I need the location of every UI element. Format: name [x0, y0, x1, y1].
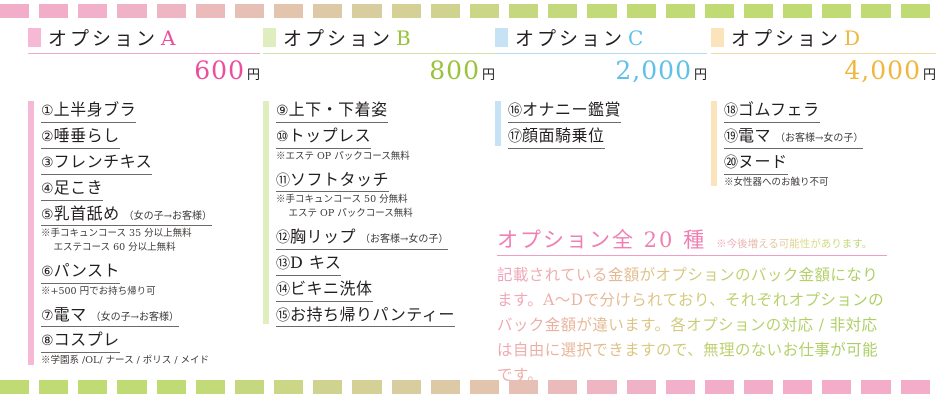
bottom-decorative-band [0, 380, 940, 394]
decor-square [117, 4, 146, 18]
column-d-header: オプション D 4,000円 [711, 24, 936, 85]
option-item-main: ②唾垂らし [41, 125, 120, 149]
decor-square [470, 380, 499, 394]
decor-square [78, 4, 107, 18]
column-d-price-yen: 円 [923, 68, 936, 83]
column-b-price-amount: 800 [429, 56, 480, 85]
option-item-main: ⑦電マ（女の子→お客様） [41, 304, 179, 328]
option-item-main: ⑱ゴムフェラ [724, 99, 820, 123]
option-item-main: ④足こき [41, 177, 103, 201]
option-item: ⑳ヌード※女性器へのお触り不可 [724, 151, 936, 190]
column-c-letter: C [628, 26, 643, 50]
column-b-price: 800円 [263, 56, 495, 85]
column-b-title: オプション [283, 24, 393, 51]
option-item-name: トップレス [289, 126, 372, 145]
option-item-name: 乳首舐め [54, 204, 120, 223]
decor-square [392, 4, 421, 18]
summary-heading-row: オプション全 20 種 ※今後増える可能性があります。 [497, 224, 887, 256]
option-item-main: ⑧コスプレ [41, 329, 120, 353]
top-decorative-band [0, 4, 940, 18]
column-b-list-accent-bar [263, 101, 269, 324]
column-b-price-yen: 円 [482, 68, 495, 83]
option-column-d: オプション D 4,000円 ⑱ゴムフェラ⑲電マ（お客様→女の子）⑳ヌード※女性… [711, 24, 936, 194]
decor-square [822, 380, 851, 394]
option-item-name: D キス [290, 253, 341, 272]
column-b-accent-chip [263, 28, 276, 47]
decor-square [39, 380, 68, 394]
option-item-number: ⑫ [276, 230, 290, 246]
column-c-title: オプション [515, 24, 625, 51]
summary-block: オプション全 20 種 ※今後増える可能性があります。 記載されている金額がオプ… [497, 224, 887, 389]
option-item-main: ⑰顔面騎乗位 [508, 125, 605, 149]
column-b-rule [263, 53, 495, 54]
option-item-name: ビキニ洗体 [290, 279, 373, 298]
option-item-parenthetical: （お客様→女の子） [775, 133, 863, 144]
decor-square [587, 4, 616, 18]
decor-square [861, 380, 890, 394]
option-item: ⑦電マ（女の子→お客様） [41, 304, 260, 328]
column-c-header: オプション C 2,000円 [495, 24, 707, 85]
column-d-price-amount: 4,000 [844, 56, 921, 85]
option-item-name: 顔面騎乗位 [522, 126, 605, 145]
option-item-name: 電マ [54, 305, 87, 324]
decor-square [274, 4, 303, 18]
decor-square [509, 4, 538, 18]
column-a-price: 600円 [28, 56, 260, 85]
column-d-list: ⑱ゴムフェラ⑲電マ（お客様→女の子）⑳ヌード※女性器へのお触り不可 [711, 99, 936, 189]
decor-square [157, 380, 186, 394]
decor-square [0, 4, 29, 18]
decor-square [0, 380, 29, 394]
column-b-header: オプション B 800円 [263, 24, 495, 85]
decor-square [39, 4, 68, 18]
option-item-main: ⑪ソフトタッチ [276, 169, 389, 193]
option-item-number: ② [41, 129, 54, 145]
option-item: ⑨上下・下着姿 [276, 99, 495, 123]
option-item-name: ソフトタッチ [290, 170, 389, 189]
column-d-accent-chip [711, 28, 724, 47]
option-item-number: ④ [41, 181, 54, 197]
option-item-name: ヌード [738, 152, 788, 171]
option-item-name: 電マ [738, 126, 771, 145]
decor-square [744, 4, 773, 18]
column-c-list-accent-bar [495, 101, 501, 146]
decor-square [352, 380, 381, 394]
option-item-name: 胸リップ [290, 227, 356, 246]
option-item: ⑥パンスト※+500 円でお持ち帰り可 [41, 260, 260, 299]
option-item-number: ⑳ [724, 155, 738, 171]
option-item: ⑩トップレス※エステ OP パックコース無料 [276, 125, 495, 164]
option-item-number: ③ [41, 155, 54, 171]
option-item-number: ① [41, 103, 54, 119]
option-item-number: ⑲ [724, 129, 738, 145]
option-item: ⑧コスプレ※学園系 /OL/ ナース / ポリス / メイド [41, 329, 260, 368]
column-c-price-amount: 2,000 [615, 56, 692, 85]
decor-square [313, 380, 342, 394]
decor-square [666, 380, 695, 394]
decor-square [548, 380, 577, 394]
decor-square [705, 380, 734, 394]
decor-square [196, 380, 225, 394]
option-item-name: 上半身ブラ [54, 100, 137, 119]
option-item-number: ⑤ [41, 207, 54, 223]
option-column-c: オプション C 2,000円 ⑯オナニー鑑賞⑰顔面騎乗位 [495, 24, 707, 151]
column-d-letter: D [844, 26, 860, 50]
decor-square [431, 4, 460, 18]
column-d-list-accent-bar [711, 101, 717, 186]
decor-square [313, 4, 342, 18]
decor-square [235, 380, 264, 394]
decor-square [235, 4, 264, 18]
option-item-note: ※手コキュンコース 50 分無料 エステ OP パックコース無料 [276, 193, 495, 221]
decor-square [274, 380, 303, 394]
option-item-main: ⑯オナニー鑑賞 [508, 99, 621, 123]
option-item-note: ※女性器へのお触り不可 [724, 176, 936, 190]
option-column-b: オプション B 800円 ⑨上下・下着姿⑩トップレス※エステ OP パックコース… [263, 24, 495, 329]
option-item-note: ※エステ OP パックコース無料 [276, 150, 495, 164]
option-item-number: ⑯ [508, 103, 522, 119]
option-item: ①上半身ブラ [41, 99, 260, 123]
decor-square [157, 4, 186, 18]
column-a-list-accent-bar [28, 101, 34, 365]
option-item: ⑫胸リップ（お客様→女の子） [276, 226, 495, 250]
decor-square [901, 4, 930, 18]
option-item: ⑮お持ち帰りパンティー [276, 304, 495, 328]
option-item-name: フレンチキス [54, 152, 153, 171]
decor-square [744, 380, 773, 394]
option-item-main: ⑬D キス [276, 252, 341, 276]
option-item-name: パンスト [54, 261, 120, 280]
option-item-name: お持ち帰りパンティー [290, 305, 455, 324]
column-b-letter: B [396, 26, 411, 50]
option-item-number: ⑭ [276, 282, 290, 298]
option-item-name: 唾垂らし [54, 126, 120, 145]
column-d-price: 4,000円 [711, 56, 936, 85]
decor-square [548, 4, 577, 18]
decor-square [392, 380, 421, 394]
option-item-number: ⑥ [41, 264, 54, 280]
option-item-main: ⑳ヌード [724, 151, 788, 175]
option-item-main: ⑨上下・下着姿 [276, 99, 388, 123]
decor-square [666, 4, 695, 18]
option-item-name: 足こき [54, 178, 104, 197]
option-item: ⑲電マ（お客様→女の子） [724, 125, 936, 149]
column-a-price-amount: 600 [194, 56, 245, 85]
option-item: ⑰顔面騎乗位 [508, 125, 707, 149]
option-item-main: ⑲電マ（お客様→女の子） [724, 125, 863, 149]
decor-square [705, 4, 734, 18]
decor-square [509, 380, 538, 394]
option-item-name: ゴムフェラ [738, 100, 820, 119]
option-item: ⑱ゴムフェラ [724, 99, 936, 123]
decor-square [783, 4, 812, 18]
decor-square [822, 4, 851, 18]
option-item: ⑯オナニー鑑賞 [508, 99, 707, 123]
column-a-header: オプション A 600円 [28, 24, 260, 85]
option-item: ⑤乳首舐め（女の子→お客様）※手コキュンコース 35 分以上無料 エステコース … [41, 203, 260, 255]
option-item-parenthetical: （女の子→お客様） [91, 312, 179, 323]
column-c-price: 2,000円 [495, 56, 707, 85]
column-d-rule [711, 53, 936, 54]
option-item-number: ⑧ [41, 333, 54, 349]
column-d-title: オプション [731, 24, 841, 51]
column-a-title: オプション [48, 24, 158, 51]
decor-square [783, 380, 812, 394]
option-sheet: オプション A 600円 ①上半身ブラ②唾垂らし③フレンチキス④足こき⑤乳首舐め… [0, 24, 940, 376]
option-item-main: ③フレンチキス [41, 151, 152, 175]
summary-heading: オプション全 20 種 [497, 224, 706, 254]
column-c-list: ⑯オナニー鑑賞⑰顔面騎乗位 [495, 99, 707, 149]
option-column-a: オプション A 600円 ①上半身ブラ②唾垂らし③フレンチキス④足こき⑤乳首舐め… [28, 24, 260, 373]
option-item-name: オナニー鑑賞 [522, 100, 621, 119]
option-item: ③フレンチキス [41, 151, 260, 175]
column-b-list: ⑨上下・下着姿⑩トップレス※エステ OP パックコース無料⑪ソフトタッチ※手コキ… [263, 99, 495, 327]
decor-square [78, 380, 107, 394]
option-item-note: ※学園系 /OL/ ナース / ポリス / メイド [41, 354, 260, 368]
decor-square [352, 4, 381, 18]
option-item-number: ⑩ [276, 129, 289, 145]
option-item-number: ⑰ [508, 129, 522, 145]
option-item-number: ⑱ [724, 103, 738, 119]
decor-square [196, 4, 225, 18]
column-c-price-yen: 円 [694, 68, 707, 83]
summary-body: 記載されている金額がオプションのバック金額になります。A〜Dで分けられており、そ… [497, 263, 887, 389]
option-item-number: ⑨ [276, 103, 289, 119]
option-item-main: ⑥パンスト [41, 260, 120, 284]
column-c-accent-chip [495, 28, 508, 47]
option-item-main: ①上半身ブラ [41, 99, 136, 123]
decor-square [470, 4, 499, 18]
decor-square [627, 380, 656, 394]
option-item-number: ⑦ [41, 308, 54, 324]
option-item-main: ⑫胸リップ（お客様→女の子） [276, 226, 448, 250]
column-a-list: ①上半身ブラ②唾垂らし③フレンチキス④足こき⑤乳首舐め（女の子→お客様）※手コキ… [28, 99, 260, 368]
option-item: ⑭ビキニ洗体 [276, 278, 495, 302]
option-item-parenthetical: （お客様→女の子） [360, 234, 448, 245]
option-item-parenthetical: （女の子→お客様） [124, 211, 212, 222]
column-a-accent-chip [28, 28, 41, 47]
column-a-letter: A [161, 26, 175, 50]
option-item: ④足こき [41, 177, 260, 201]
option-item-main: ⑩トップレス [276, 125, 371, 149]
option-item: ⑪ソフトタッチ※手コキュンコース 50 分無料 エステ OP パックコース無料 [276, 169, 495, 221]
option-item-name: 上下・下着姿 [289, 100, 388, 119]
option-item-number: ⑪ [276, 173, 290, 189]
option-item-number: ⑬ [276, 256, 290, 272]
option-item-main: ⑤乳首舐め（女の子→お客様） [41, 203, 212, 227]
decor-square [627, 4, 656, 18]
option-item-note: ※+500 円でお持ち帰り可 [41, 285, 260, 299]
decor-square [861, 4, 890, 18]
option-item: ②唾垂らし [41, 125, 260, 149]
option-item: ⑬D キス [276, 252, 495, 276]
option-item-note: ※手コキュンコース 35 分以上無料 エステコース 60 分以上無料 [41, 227, 260, 255]
option-item-name: コスプレ [54, 330, 120, 349]
decor-square [431, 380, 460, 394]
option-item-main: ⑭ビキニ洗体 [276, 278, 373, 302]
column-a-rule [28, 53, 260, 54]
column-c-rule [495, 53, 707, 54]
option-item-number: ⑮ [276, 308, 290, 324]
decor-square [901, 380, 930, 394]
decor-square [117, 380, 146, 394]
decor-square [587, 380, 616, 394]
summary-heading-note: ※今後増える可能性があります。 [716, 236, 872, 251]
column-a-price-yen: 円 [247, 68, 260, 83]
option-item-main: ⑮お持ち帰りパンティー [276, 304, 455, 328]
